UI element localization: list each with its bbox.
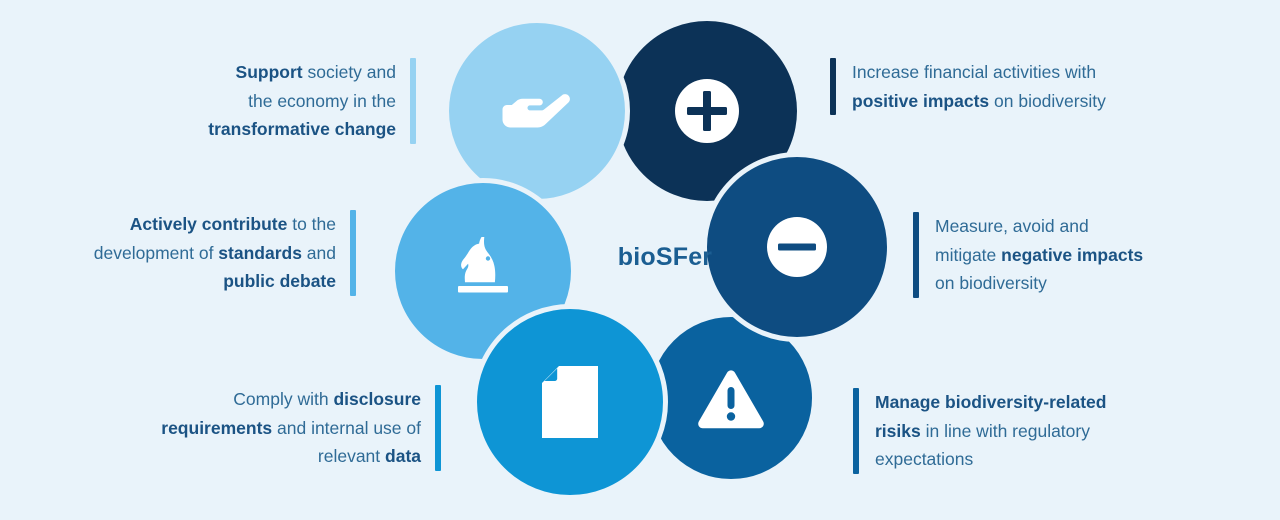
callout-comply-disclosure: Comply with disclosurerequirements and i…	[80, 385, 455, 471]
warning-icon	[696, 366, 766, 430]
callout-manage-risks: Manage biodiversity-relatedrisiks in lin…	[853, 388, 1183, 474]
callout-actively-contribute: Actively contribute to thedevelopment of…	[30, 210, 370, 296]
callout-comply-text: Comply with disclosurerequirements and i…	[80, 385, 435, 471]
circle-comply-disclosure[interactable]	[472, 304, 668, 500]
callout-support-text: Support society andthe economy in thetra…	[140, 58, 410, 144]
callout-manage-text: Manage biodiversity-relatedrisiks in lin…	[859, 388, 1106, 474]
minus-circle-icon	[764, 214, 830, 280]
callout-actively-text: Actively contribute to thedevelopment of…	[30, 210, 350, 296]
infographic-canvas: bioSFer Support society andthe economy i…	[0, 0, 1280, 520]
circle-support-society[interactable]	[444, 18, 630, 204]
callout-actively-accent-bar	[350, 210, 356, 296]
center-brand-label: bioSFer	[580, 243, 750, 272]
callout-support-society: Support society andthe economy in thetra…	[140, 58, 430, 144]
document-icon	[542, 366, 598, 438]
hand-icon	[499, 83, 575, 139]
callout-measure-negative-impacts: Measure, avoid andmitigate negative impa…	[913, 212, 1213, 298]
plus-circle-icon	[672, 76, 742, 146]
callout-measure-text: Measure, avoid andmitigate negative impa…	[919, 212, 1143, 298]
callout-increase-financial-activities: Increase financial activities withpositi…	[830, 58, 1190, 115]
chess-knight-icon	[447, 233, 519, 309]
callout-increase-text: Increase financial activities withpositi…	[836, 58, 1106, 115]
callout-comply-accent-bar	[435, 385, 441, 471]
callout-support-accent-bar	[410, 58, 416, 144]
